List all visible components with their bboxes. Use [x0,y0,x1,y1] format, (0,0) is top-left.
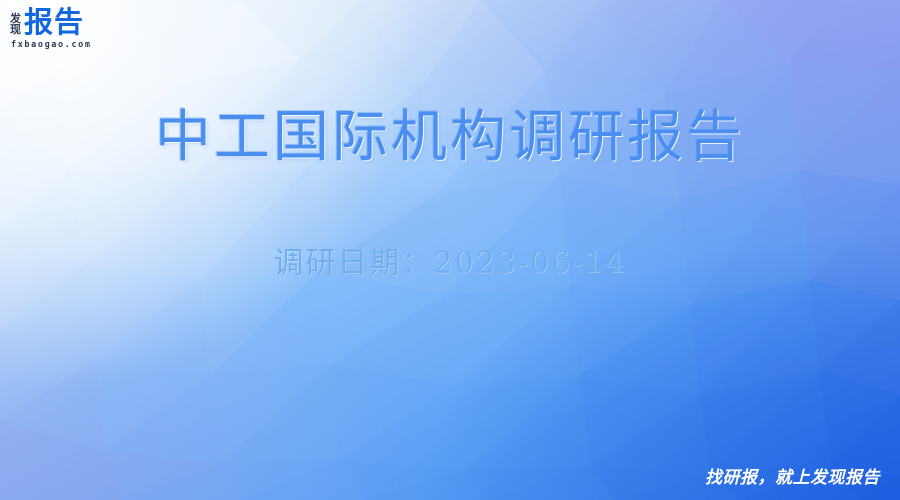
logo-wordmark: 发 现 报告 [10,8,170,37]
survey-date-subtitle: 调研日期：2023-06-14 [0,238,900,282]
brand-tagline: 找研报，就上发现报告 [705,463,880,488]
logo-url: fxbaogao.com [11,40,170,50]
page-title: 中工国际机构调研报告 [0,92,900,173]
brand-logo[interactable]: 发 现 报告 fxbaogao.com [10,8,170,50]
title-slide: 发 现 报告 fxbaogao.com 中工国际机构调研报告 调研日期：2023… [0,0,900,500]
logo-main-text: 报告 [24,8,84,37]
logo-char-xian: 现 [10,24,21,35]
logo-stacked-characters: 发 现 [10,13,21,37]
